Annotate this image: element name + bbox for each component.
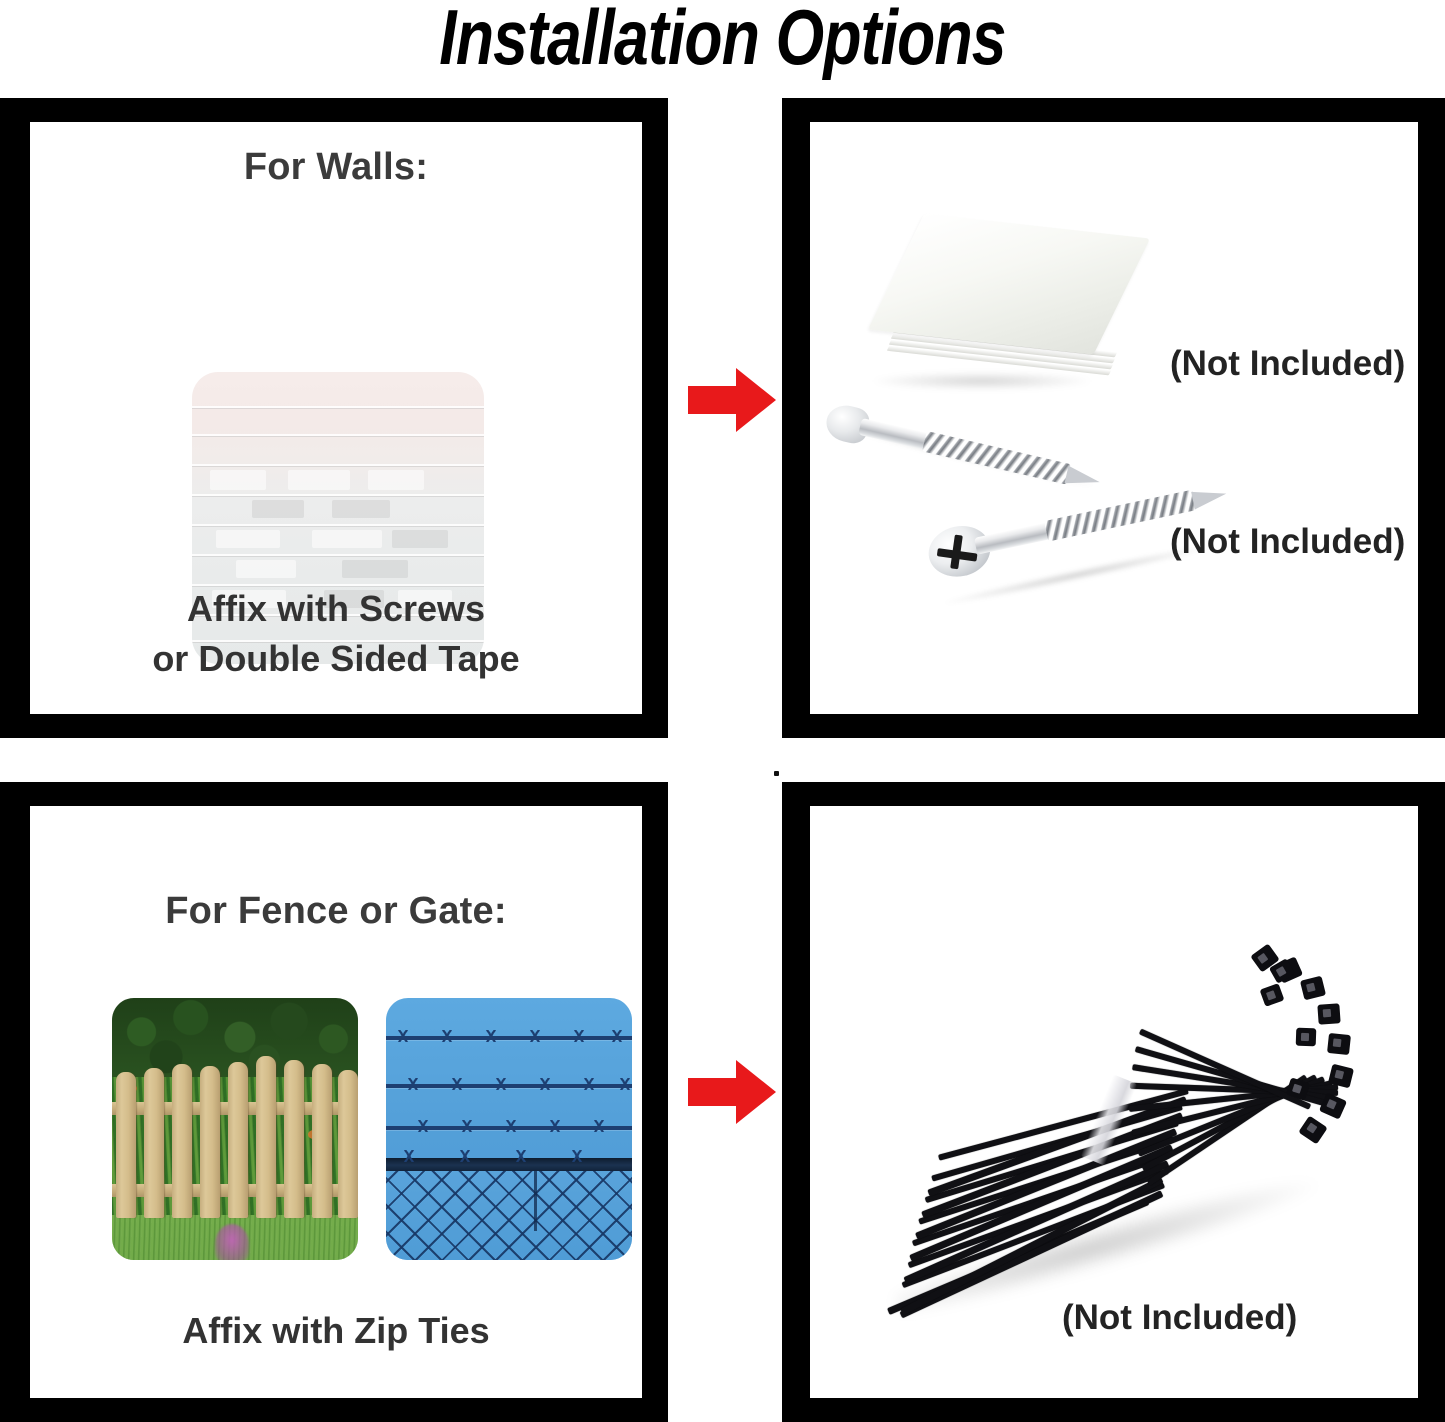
page-title: Installation Options bbox=[145, 0, 1301, 81]
image-artifact-speck bbox=[774, 771, 779, 776]
panel-zip-ties: (Not Included) bbox=[782, 782, 1445, 1422]
for-walls-caption-line2: or Double Sided Tape bbox=[30, 634, 642, 684]
for-walls-caption: Affix with Screws or Double Sided Tape bbox=[30, 584, 642, 683]
zip-ties-not-included-label: (Not Included) bbox=[1062, 1298, 1297, 1338]
screws-not-included-label: (Not Included) bbox=[1170, 522, 1405, 562]
for-fence-heading: For Fence or Gate: bbox=[30, 890, 642, 933]
panel-wall-hardware: (Not Included) (Not Included) bbox=[782, 98, 1445, 738]
panel-wall-hardware-content: (Not Included) (Not Included) bbox=[810, 122, 1418, 714]
panel-for-fence-or-gate: For Fence or Gate: bbox=[0, 782, 668, 1422]
arrow-right-icon-bottom bbox=[686, 1056, 778, 1128]
wooden-picket-fence-photo bbox=[112, 998, 358, 1260]
panel-for-walls: For Walls: bbox=[0, 98, 668, 738]
zip-tie-bundle-icon bbox=[858, 924, 1378, 1304]
for-walls-caption-line1: Affix with Screws bbox=[30, 584, 642, 634]
tape-not-included-label: (Not Included) bbox=[1170, 344, 1405, 384]
double-sided-tape-stack-icon bbox=[870, 234, 1130, 394]
for-fence-caption: Affix with Zip Ties bbox=[30, 1306, 642, 1356]
panel-zip-ties-content: (Not Included) bbox=[810, 806, 1418, 1398]
for-walls-heading: For Walls: bbox=[30, 146, 642, 189]
panel-for-walls-content: For Walls: bbox=[30, 122, 642, 714]
installation-options-infographic: Installation Options For Walls: bbox=[0, 0, 1445, 1422]
arrow-right-icon-top bbox=[686, 364, 778, 436]
panel-for-fence-or-gate-content: For Fence or Gate: bbox=[30, 806, 642, 1398]
chain-link-fence-photo bbox=[386, 998, 632, 1260]
